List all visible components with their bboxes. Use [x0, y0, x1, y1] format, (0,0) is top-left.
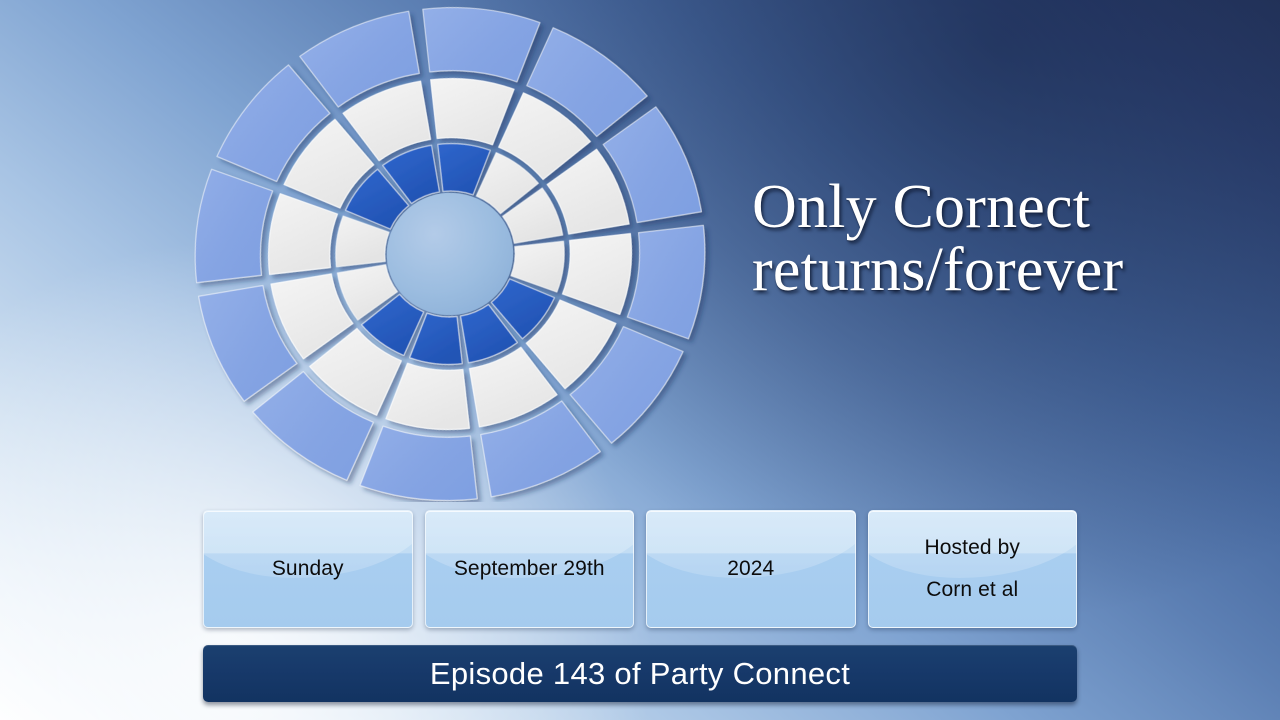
episode-label: Episode 143 of Party Connect	[430, 656, 850, 692]
info-box-date-label: September 29th	[454, 557, 605, 581]
episode-bar[interactable]: Episode 143 of Party Connect	[203, 645, 1077, 702]
info-box-year-label: 2024	[727, 557, 774, 581]
info-box-hosts-label: Hosted by	[925, 536, 1020, 560]
info-box-year[interactable]: 2024	[646, 510, 856, 628]
info-box-row: Sunday September 29th 2024 Hosted by Cor…	[203, 510, 1077, 628]
info-box-hosts-value: Corn et al	[926, 578, 1018, 602]
info-box-day[interactable]: Sunday	[203, 510, 413, 628]
only-connect-wheel-logo	[175, 2, 735, 502]
info-box-date[interactable]: September 29th	[425, 510, 635, 628]
info-box-hosts[interactable]: Hosted by Corn et al	[868, 510, 1078, 628]
page-title: Only Cornect returns/forever	[752, 176, 1252, 302]
title-slide: Only Cornect returns/forever Sunday Sept…	[0, 0, 1280, 720]
info-box-day-label: Sunday	[272, 557, 344, 581]
